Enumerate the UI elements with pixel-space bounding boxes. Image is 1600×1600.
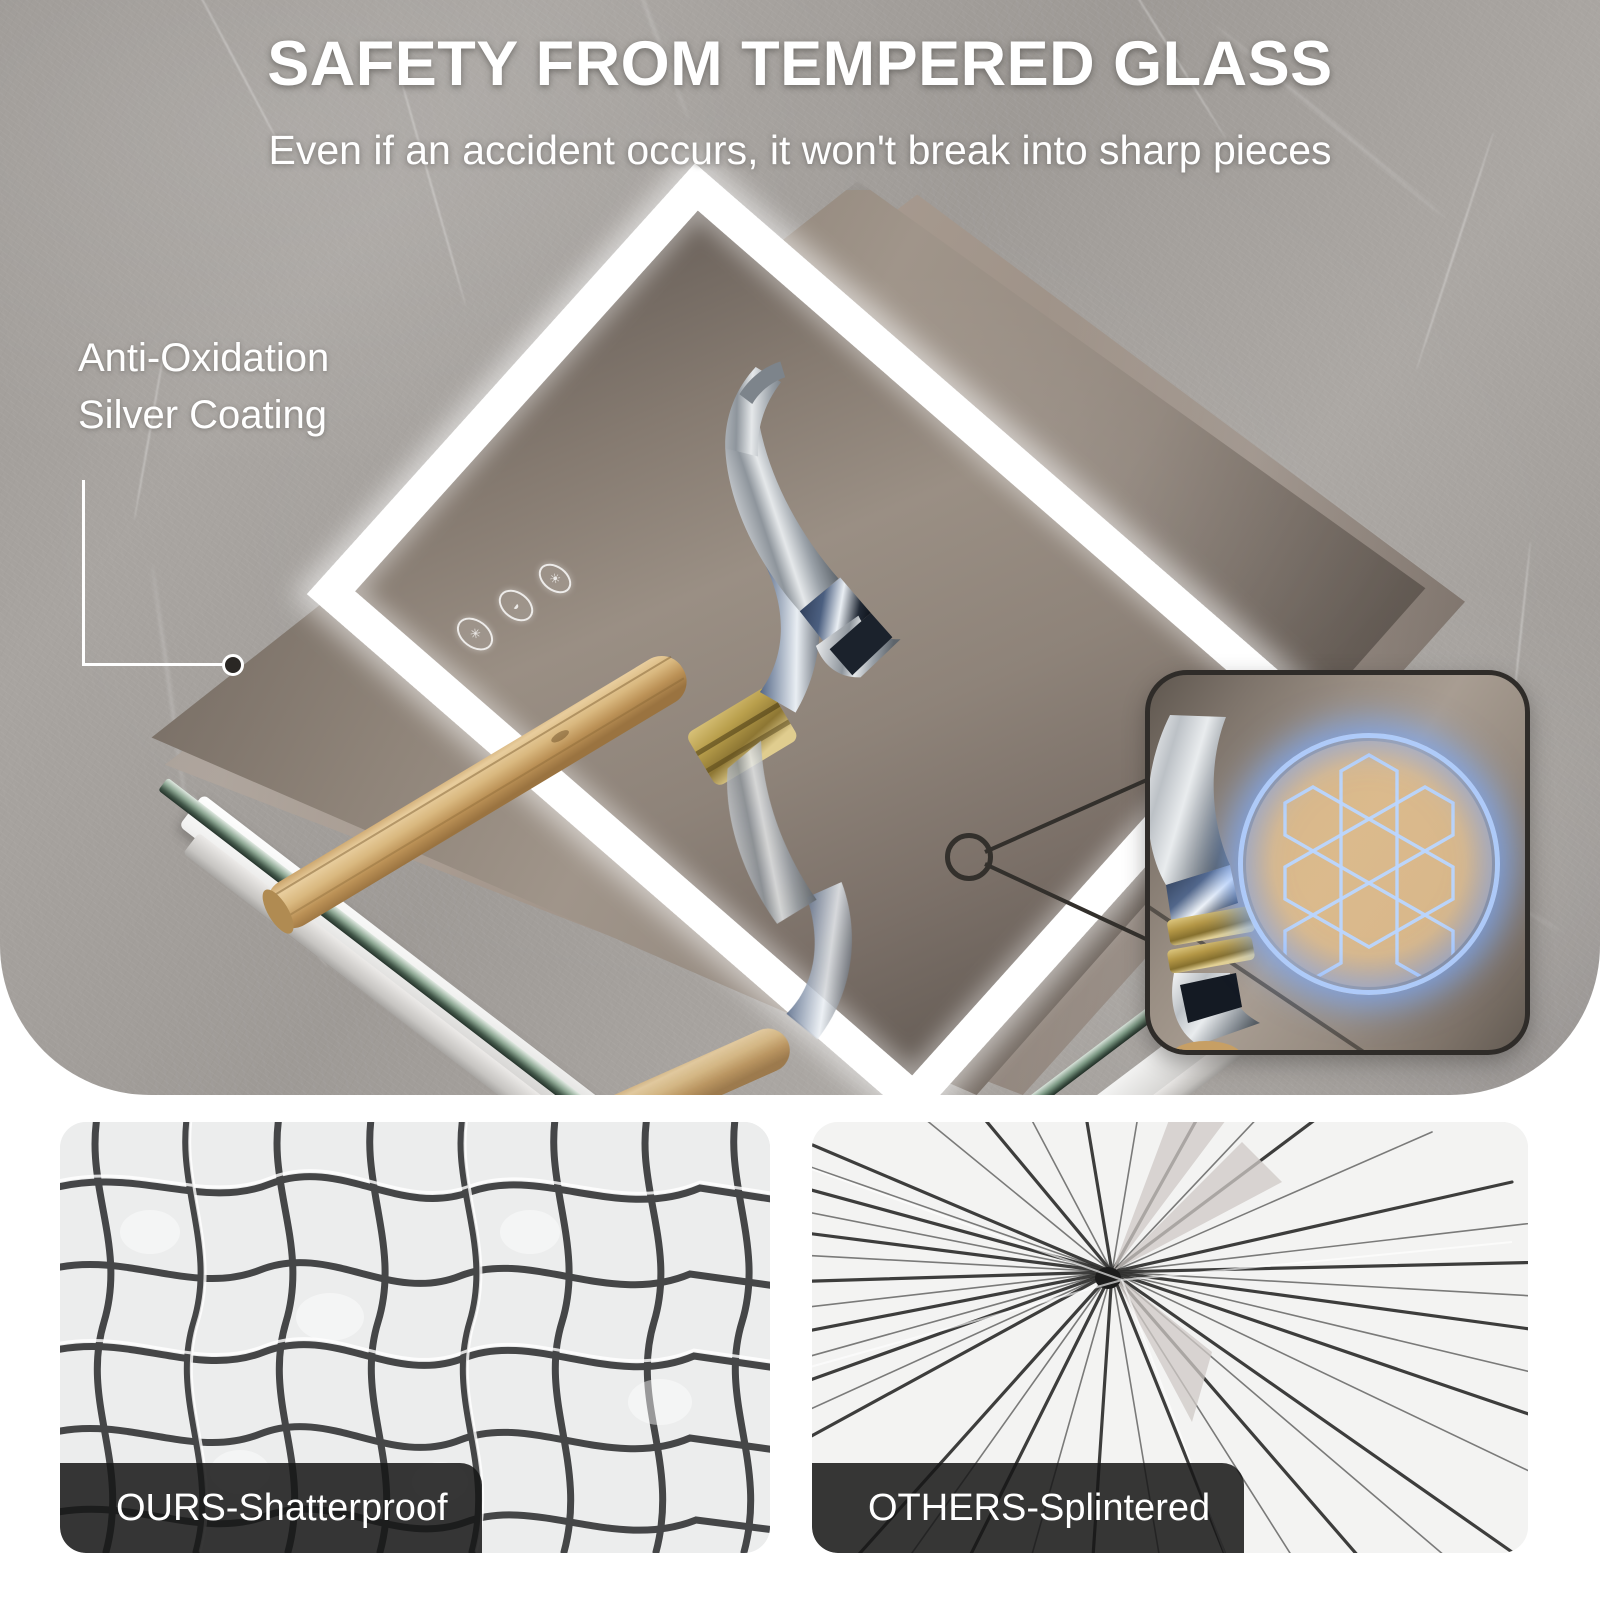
hero-panel: ✳ ◑ ☀	[0, 0, 1600, 1095]
comparison-label-others: OTHERS-Splintered	[812, 1463, 1244, 1553]
touch-button-dimmer-glyph: ◑	[508, 597, 523, 614]
comparison-panel-others: OTHERS-Splintered	[812, 1122, 1528, 1553]
magnifier-source-point	[945, 833, 993, 881]
page-title: SAFETY FROM TEMPERED GLASS	[0, 28, 1600, 100]
comparison-panel-ours: OURS-Shatterproof	[60, 1122, 770, 1553]
leader-line-horizontal	[82, 663, 228, 666]
page-subtitle: Even if an accident occurs, it won't bre…	[0, 127, 1600, 174]
silver-coating-point	[222, 654, 244, 676]
leader-line-vertical	[82, 480, 85, 666]
callout-line-2: Silver Coating	[78, 387, 498, 444]
callout-line-1: Anti-Oxidation	[78, 330, 498, 387]
comparison-label-ours: OURS-Shatterproof	[60, 1463, 482, 1553]
touch-button-defogger-glyph: ✳	[466, 624, 484, 643]
tempered-glass-zoom-callout	[1145, 670, 1530, 1055]
led-mirror-assembly: ✳ ◑ ☀	[145, 190, 1465, 1095]
anti-oxidation-callout: Anti-Oxidation Silver Coating	[78, 330, 498, 444]
touch-button-power-glyph: ☀	[546, 569, 565, 589]
protective-glow-ring	[1238, 733, 1500, 995]
